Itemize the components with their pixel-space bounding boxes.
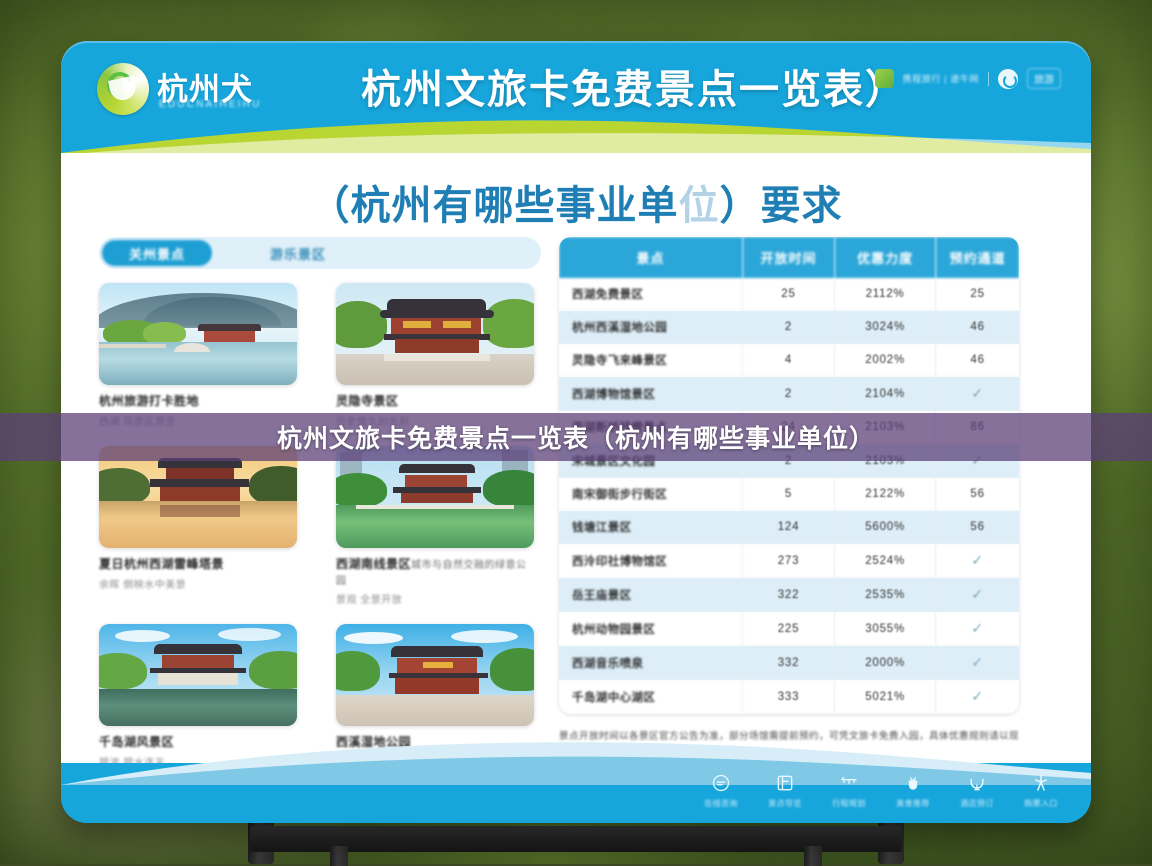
list-item[interactable]: 灵隐寺景区 历史悠久的古刹 (336, 283, 534, 428)
table-row[interactable]: 西湖音乐喷泉3322000%✓ (559, 646, 1019, 680)
col-header-booking: 预约通道 (936, 237, 1019, 278)
caption-title: 夏日杭州西湖雷峰塔景 (99, 555, 297, 572)
footer-icon-row[interactable]: 在线咨询景点导览行程规划美食推荐酒店预订购票入口 (699, 771, 1063, 809)
col-header-discount: 优惠力度 (835, 237, 936, 278)
cell-discount: 3024% (835, 311, 936, 344)
caption-sub: 景观 全景开放 (336, 591, 534, 606)
cell-name: 南宋御街步行街区 (559, 478, 743, 511)
ruler-icon (827, 771, 871, 795)
cell-booking: 56 (936, 511, 1019, 544)
footer-item-label: 行程规划 (827, 798, 871, 809)
thumbnail-lake-bridge[interactable] (99, 283, 297, 385)
cell-time: 273 (743, 544, 835, 578)
cell-time: 124 (743, 511, 835, 544)
table-row[interactable]: 西泠印社博物馆区2732524%✓ (559, 544, 1019, 578)
cell-discount: 2002% (835, 344, 936, 377)
stand-leg-left (330, 846, 348, 866)
cell-time: 25 (743, 278, 835, 311)
overlay-caption-bar: 杭州文旅卡免费景点一览表（杭州有哪些事业单位） (0, 413, 1152, 461)
check-icon: ✓ (971, 385, 984, 401)
cell-discount: 2122% (835, 478, 936, 511)
gallery-panel: 关州景点 游乐景区 (99, 237, 541, 769)
cell-name: 杭州动物园景区 (559, 612, 743, 646)
overlay-caption-text: 杭州文旅卡免费景点一览表（杭州有哪些事业单位） (277, 419, 875, 455)
list-item[interactable]: 夏日杭州西湖雷峰塔景 余晖 倒映水中美景 (99, 446, 297, 606)
cell-booking: ✓ (936, 544, 1019, 578)
col-header-name: 景点 (559, 237, 743, 278)
footer-item-ruler[interactable]: 行程规划 (827, 771, 871, 809)
check-icon: ✓ (971, 654, 984, 670)
check-icon: ✓ (971, 552, 984, 568)
table-row[interactable]: 钱塘江景区1245600%56 (559, 511, 1019, 544)
cell-time: 332 (743, 646, 835, 680)
subtitle-lead: （杭州 (310, 184, 433, 228)
cell-booking: 46 (936, 344, 1019, 377)
cell-discount: 2535% (835, 578, 936, 612)
page-title: 杭州文旅卡免费景点一览表） (361, 57, 901, 115)
cell-name: 西湖音乐喷泉 (559, 646, 743, 680)
cell-time: 2 (743, 377, 835, 411)
table-row[interactable]: 岳王庙景区3222535%✓ (559, 578, 1019, 612)
person-icon (1019, 771, 1063, 795)
cell-name: 钱塘江景区 (559, 511, 743, 544)
cell-time: 322 (743, 578, 835, 612)
thumbnail-grid: 杭州旅游打卡胜地 西湖 风景区游览 (99, 283, 541, 769)
table-row[interactable]: 南宋御街步行街区52122%56 (559, 478, 1019, 511)
list-item[interactable]: 杭州旅游打卡胜地 西湖 风景区游览 (99, 283, 297, 428)
header-divider (988, 72, 989, 86)
footer-item-speech[interactable]: 在线咨询 (699, 771, 743, 809)
thumbnail-green-lake[interactable] (336, 446, 534, 548)
cell-booking: ✓ (936, 578, 1019, 612)
gallery-tabs[interactable]: 关州景点 游乐景区 (99, 237, 541, 269)
footer-item-frame[interactable]: 景点导览 (763, 771, 807, 809)
caption-title: 杭州旅游打卡胜地 (99, 392, 297, 409)
cell-booking: ✓ (936, 612, 1019, 646)
board-header: 杭州犬 EDUCNAIHEIHU 杭州文旅卡免费景点一览表） 携程旅行 | 途牛… (61, 41, 1091, 132)
cell-booking: ✓ (936, 680, 1019, 714)
partner-badge-icon (875, 69, 894, 88)
caption-sub: 余晖 倒映水中美景 (99, 576, 297, 591)
table-head: 景点 开放时间 优惠力度 预约通道 (559, 237, 1019, 278)
cell-discount: 3055% (835, 612, 936, 646)
partner-label-2: 旅游 (1027, 68, 1061, 89)
brand-logo: 杭州犬 EDUCNAIHEIHU (97, 59, 303, 117)
cell-discount: 5021% (835, 680, 936, 714)
cell-time: 5 (743, 478, 835, 511)
speech-icon (699, 771, 743, 795)
cell-booking: 46 (936, 311, 1019, 344)
table-row[interactable]: 杭州西溪湿地公园23024%46 (559, 311, 1019, 344)
cell-name: 灵隐寺飞来峰景区 (559, 344, 743, 377)
stand-leg-right (804, 846, 822, 866)
caption-title: 西湖南线景区城市与自然交融的绿意公园 (336, 555, 534, 587)
col-header-time: 开放时间 (743, 237, 835, 278)
footer-item-label: 景点导览 (763, 798, 807, 809)
header-partner-marks: 携程旅行 | 途牛网 旅游 (875, 68, 1061, 89)
table-row[interactable]: 千岛湖中心湖区3335021%✓ (559, 680, 1019, 714)
subtitle-tail: ）要求 (720, 184, 843, 228)
thumbnail-sunset-pagoda[interactable] (99, 446, 297, 548)
cell-booking: 25 (936, 278, 1019, 311)
cell-time: 4 (743, 344, 835, 377)
cell-name: 岳王庙景区 (559, 578, 743, 612)
partner-circle-icon (998, 69, 1018, 89)
cell-name: 西湖免费景区 (559, 278, 743, 311)
cell-booking: ✓ (936, 646, 1019, 680)
section-subtitle: （杭州有哪些事业单位）要求 (61, 173, 1091, 231)
table-row[interactable]: 杭州动物园景区2253055%✓ (559, 612, 1019, 646)
tab-attractions[interactable]: 关州景点 (102, 240, 212, 266)
board-footer: 在线咨询景点导览行程规划美食推荐酒店预订购票入口 (61, 763, 1091, 823)
cell-discount: 5600% (835, 511, 936, 544)
subtitle-mid: 有哪些事业单 (433, 184, 679, 228)
leaf-swirl-icon (97, 63, 149, 115)
footer-item-label: 美食推荐 (891, 798, 935, 809)
content-body: 关州景点 游乐景区 (61, 237, 1091, 757)
footer-item-label: 在线咨询 (699, 798, 743, 809)
cell-discount: 2112% (835, 278, 936, 311)
caption-title: 灵隐寺景区 (336, 392, 534, 409)
table-row[interactable]: 西湖免费景区252112%25 (559, 278, 1019, 311)
cell-discount: 2000% (835, 646, 936, 680)
cell-time: 2 (743, 311, 835, 344)
partner-label-1: 携程旅行 | 途牛网 (903, 72, 979, 85)
cell-name: 千岛湖中心湖区 (559, 680, 743, 714)
thumbnail-red-temple[interactable] (336, 624, 534, 726)
table-body: 西湖免费景区252112%25杭州西溪湿地公园23024%46灵隐寺飞来峰景区4… (559, 278, 1019, 714)
footer-item-person[interactable]: 购票入口 (1019, 771, 1063, 809)
tab-parks[interactable]: 游乐景区 (246, 240, 350, 266)
cell-time: 333 (743, 680, 835, 714)
cell-booking: 56 (936, 478, 1019, 511)
logo-text-en: EDUCNAIHEIHU (159, 99, 262, 110)
stats-panel: 景点 开放时间 优惠力度 预约通道 西湖免费景区252112%25杭州西溪湿地公… (559, 237, 1019, 781)
subtitle-ghost: 位 (679, 184, 720, 228)
cell-name: 西泠印社博物馆区 (559, 544, 743, 578)
thumbnail-blue-hall[interactable] (99, 624, 297, 726)
footer-item-label: 酒店预订 (955, 798, 999, 809)
check-icon: ✓ (971, 620, 984, 636)
thumbnail-temple-gate[interactable] (336, 283, 534, 385)
thumbnail-caption: 夏日杭州西湖雷峰塔景 余晖 倒映水中美景 (99, 555, 297, 591)
footer-item-cup[interactable]: 美食推荐 (891, 771, 935, 809)
table-row[interactable]: 西湖博物馆景区22104%✓ (559, 377, 1019, 411)
cell-booking: ✓ (936, 377, 1019, 411)
footer-item-anchor[interactable]: 酒店预订 (955, 771, 999, 809)
anchor-icon (955, 771, 999, 795)
list-item[interactable]: 西湖南线景区城市与自然交融的绿意公园 景观 全景开放 (336, 446, 534, 606)
caption-title-main: 西湖南线景区 (336, 557, 411, 571)
table-header-row: 景点 开放时间 优惠力度 预约通道 (559, 237, 1019, 278)
frame-icon (763, 771, 807, 795)
attractions-table: 景点 开放时间 优惠力度 预约通道 西湖免费景区252112%25杭州西溪湿地公… (559, 237, 1019, 714)
thumbnail-caption: 西湖南线景区城市与自然交融的绿意公园 景观 全景开放 (336, 555, 534, 606)
cell-time: 225 (743, 612, 835, 646)
table-row[interactable]: 灵隐寺飞来峰景区42002%46 (559, 344, 1019, 377)
cell-discount: 2104% (835, 377, 936, 411)
cell-discount: 2524% (835, 544, 936, 578)
cell-name: 杭州西溪湿地公园 (559, 311, 743, 344)
check-icon: ✓ (971, 586, 984, 602)
cup-icon (891, 771, 935, 795)
cell-name: 西湖博物馆景区 (559, 377, 743, 411)
check-icon: ✓ (971, 688, 984, 704)
footer-item-label: 购票入口 (1019, 798, 1063, 809)
